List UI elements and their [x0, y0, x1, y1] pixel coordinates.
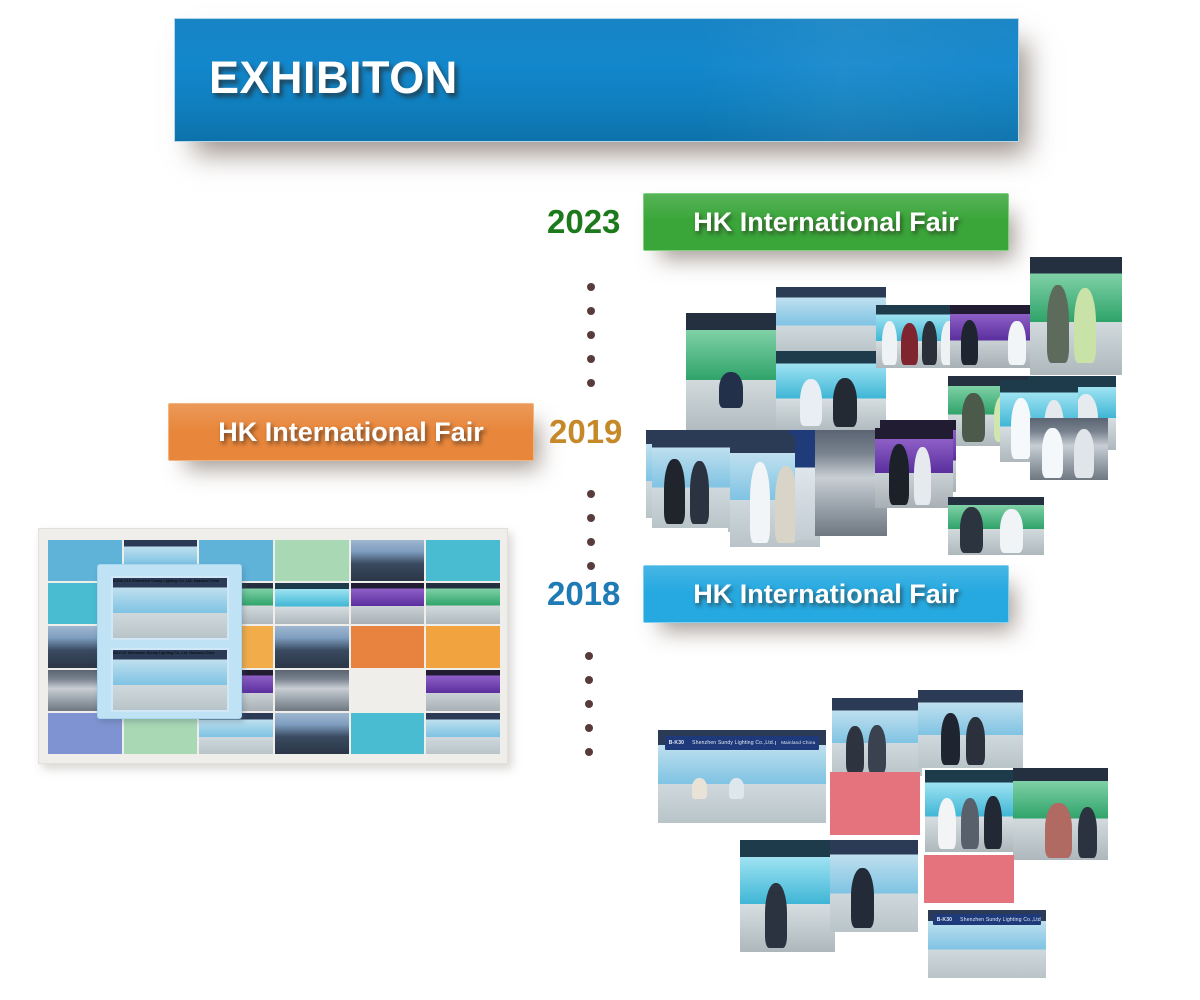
year-label-2018: 2018 [547, 575, 620, 613]
mosaic-color-tile [351, 670, 425, 711]
booth-sign-mosaic-bottom: 3B-K10 Shenzhen Sundy Lighting Co.,Ltd. … [113, 650, 227, 659]
mosaic-color-tile [351, 626, 425, 667]
mosaic-photo-tile [275, 583, 349, 624]
connector-dot [585, 724, 593, 732]
timeline-connector-2019 [587, 490, 595, 586]
collage-photo-2019 [1030, 418, 1108, 480]
booth-sign-company: Shenzhen Sundy Lighting Co.,Ltd. [692, 740, 775, 746]
booth-sign-region: Mainland China [775, 741, 815, 746]
booth-sign-region: Mainland China [194, 579, 219, 583]
timeline-connector-2018 [585, 652, 593, 772]
mosaic-color-tile [275, 540, 349, 581]
collage-photo-2018 [740, 840, 835, 952]
collage-photo-2018-boothsign: B-K30 Shenzhen Sundy Lighting Co.,Ltd. M… [658, 730, 826, 823]
collage-photo-2023 [1030, 257, 1122, 375]
header-banner: EXHIBITON [174, 18, 1019, 142]
connector-dot [587, 538, 595, 546]
mosaic-photo-tile [275, 670, 349, 711]
booth-sign-mosaic-top: 5G06-018 Shenzhen Sundy Lighting Co.,Ltd… [113, 578, 227, 587]
booth-sign-region: Mainland China [189, 651, 214, 655]
overlay-booth-photo-bottom: 3B-K10 Shenzhen Sundy Lighting Co.,Ltd. … [111, 648, 229, 712]
mosaic-photo-tile [275, 626, 349, 667]
mosaic-photo-tile [426, 713, 500, 754]
collage-photo-2018 [832, 698, 922, 776]
connector-dot [585, 700, 593, 708]
collage-photo-2019 [948, 497, 1044, 555]
mosaic-color-tile [426, 540, 500, 581]
connector-dot [587, 490, 595, 498]
connector-dot [587, 379, 595, 387]
fair-bar-label-2019: HK International Fair [169, 404, 533, 460]
booth-sign-code: 5G06-018 [113, 578, 131, 583]
year-label-2019: 2019 [549, 413, 622, 451]
mosaic-photo-tile [426, 583, 500, 624]
collage-photo-2019 [652, 432, 738, 528]
booth-sign-company: Shenzhen Sundy Lighting Co.,Ltd. [132, 578, 193, 583]
booth-sign-code: B-K30 [669, 740, 684, 746]
booth-sign-company: Shenzhen Sundy Lighting Co.,Ltd. [960, 917, 1041, 923]
collage-photo-2018 [1013, 768, 1108, 860]
fair-bar-2023[interactable]: HK International Fair [643, 193, 1009, 251]
mosaic-overlay-frame: 5G06-018 Shenzhen Sundy Lighting Co.,Ltd… [97, 564, 242, 719]
mosaic-color-tile [351, 713, 425, 754]
collage-photo-2018 [925, 770, 1015, 852]
overlay-booth-photo-top: 5G06-018 Shenzhen Sundy Lighting Co.,Ltd… [111, 576, 229, 640]
collage-photo-2019 [875, 428, 953, 508]
connector-dot [587, 562, 595, 570]
collage-photo-2018 [918, 690, 1023, 768]
collage-photo-2018-placeholder [924, 855, 1014, 903]
fair-bar-label-2023: HK International Fair [644, 194, 1008, 250]
mosaic-photo-tile [351, 540, 425, 581]
booth-sign-code: B-K30 [937, 917, 952, 923]
booth-sign-2018: B-K30 Shenzhen Sundy Lighting Co.,Ltd. M… [665, 736, 820, 751]
collage-photo-2018-placeholder [830, 772, 920, 835]
mosaic-color-tile [426, 626, 500, 667]
connector-dot [585, 676, 593, 684]
connector-dot [587, 283, 595, 291]
collage-photo-2018-boothsign: B-K30 Shenzhen Sundy Lighting Co.,Ltd. M… [928, 910, 1046, 978]
mosaic-photo-tile [351, 583, 425, 624]
booth-sign-2018-bottom: B-K30 Shenzhen Sundy Lighting Co.,Ltd. M… [933, 914, 1042, 925]
connector-dot [587, 307, 595, 315]
year-label-2023: 2023 [547, 203, 620, 241]
booth-sign-code: 3B-K10 [113, 650, 126, 655]
timeline-connector-2023 [587, 283, 595, 403]
collage-photo-2023 [950, 305, 1038, 368]
page-canvas: EXHIBITON 2023 HK International Fair [0, 0, 1200, 1000]
connector-dot [585, 652, 593, 660]
fair-bar-2019[interactable]: HK International Fair [168, 403, 534, 461]
collage-photo-2018 [830, 840, 918, 932]
collage-photo-2023 [776, 287, 886, 353]
collage-photo-2019-banner [795, 430, 817, 540]
connector-dot [587, 331, 595, 339]
fair-bar-2018[interactable]: HK International Fair [643, 565, 1009, 623]
fair-bar-label-2018: HK International Fair [644, 566, 1008, 622]
mosaic-photo-panel: 5G06-018 Shenzhen Sundy Lighting Co.,Ltd… [38, 528, 508, 764]
collage-photo-2023 [776, 351, 886, 434]
connector-dot [587, 514, 595, 522]
mosaic-photo-tile [275, 713, 349, 754]
mosaic-photo-tile [426, 670, 500, 711]
booth-sign-company: Shenzhen Sundy Lighting Co.,Ltd. [127, 650, 188, 655]
connector-dot [585, 748, 593, 756]
connector-dot [587, 355, 595, 363]
page-title: EXHIBITON [209, 52, 458, 104]
